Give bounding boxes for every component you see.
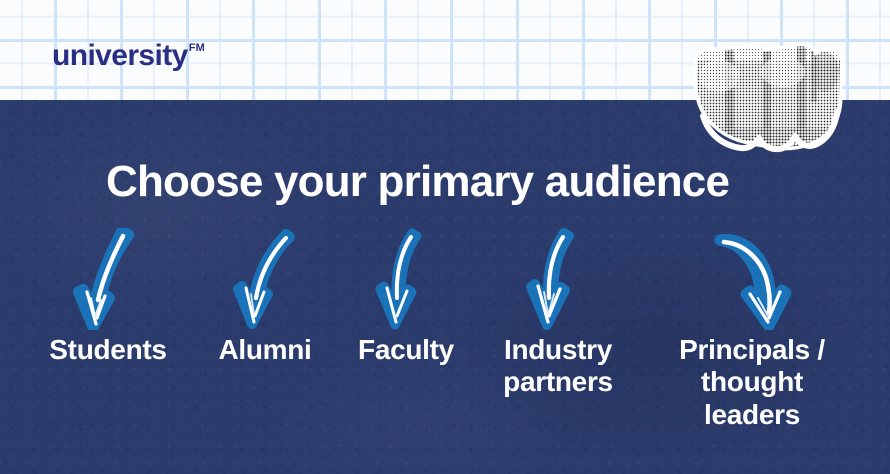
audience-option-industry-partners[interactable]: Industry partners xyxy=(472,228,644,399)
curved-down-right-arrow-icon xyxy=(706,228,798,330)
audience-label: Principals / thought leaders xyxy=(652,334,852,431)
slide-canvas: university FM xyxy=(0,0,890,474)
curved-down-left-arrow-icon xyxy=(65,228,151,330)
audience-label: Industry partners xyxy=(472,334,644,399)
page-title: Choose your primary audience xyxy=(106,158,729,206)
straight-down-arrow-icon xyxy=(522,228,594,330)
straight-down-arrow-icon xyxy=(372,228,440,330)
curved-down-left-arrow-icon xyxy=(226,228,304,330)
audience-option-principals-thought-leaders[interactable]: Principals / thought leaders xyxy=(652,228,852,431)
logo-wordmark: university xyxy=(52,41,188,71)
audience-label: Students xyxy=(18,334,198,366)
university-fm-logo[interactable]: university FM xyxy=(52,41,205,71)
logo-fm-suffix: FM xyxy=(189,43,205,54)
audience-option-students[interactable]: Students xyxy=(18,228,198,366)
halftone-fist-image xyxy=(685,42,847,158)
audience-option-alumni[interactable]: Alumni xyxy=(190,228,340,366)
audience-option-faculty[interactable]: Faculty xyxy=(335,228,477,366)
audience-label: Faculty xyxy=(335,334,477,366)
audience-options-row: Students Alumni xyxy=(0,228,890,458)
audience-label: Alumni xyxy=(190,334,340,366)
